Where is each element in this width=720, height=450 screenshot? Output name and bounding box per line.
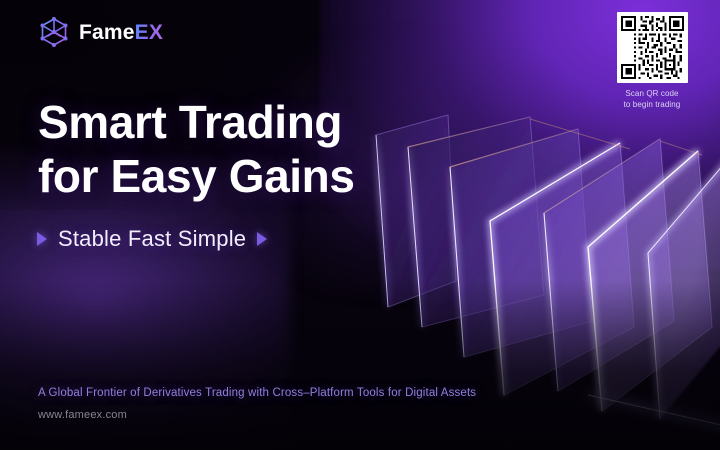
triangle-right-icon-right [257,232,267,246]
fameex-hexagon-network-logo-icon [38,16,70,48]
brand-name-primary: Fame [79,21,135,44]
qr-caption-line-1: Scan QR code [624,89,681,100]
triangle-right-icon-left [37,232,47,246]
promo-banner: FameEX Smart Trading for Easy Gains Stab… [0,0,720,450]
subtitle-text: Stable Fast Simple [58,226,246,252]
qr-block[interactable]: Scan QR code to begin trading [609,12,695,111]
headline-line-1: Smart Trading [38,96,342,148]
footer-url[interactable]: www.fameex.com [38,409,127,421]
hero-subtitle: Stable Fast Simple [37,226,267,252]
footer-tagline: A Global Frontier of Derivatives Trading… [38,387,476,399]
brand-logo[interactable]: FameEX [38,16,163,48]
qr-caption: Scan QR code to begin trading [624,89,681,111]
qr-code-icon[interactable] [617,12,688,83]
headline-line-2: for Easy Gains [38,150,355,204]
background-vignette-bottom [0,280,720,450]
hero-headline: Smart Trading for Easy Gains [38,96,355,204]
qr-caption-line-2: to begin trading [624,100,681,111]
brand-wordmark: FameEX [79,22,163,43]
brand-name-accent: EX [135,21,163,44]
